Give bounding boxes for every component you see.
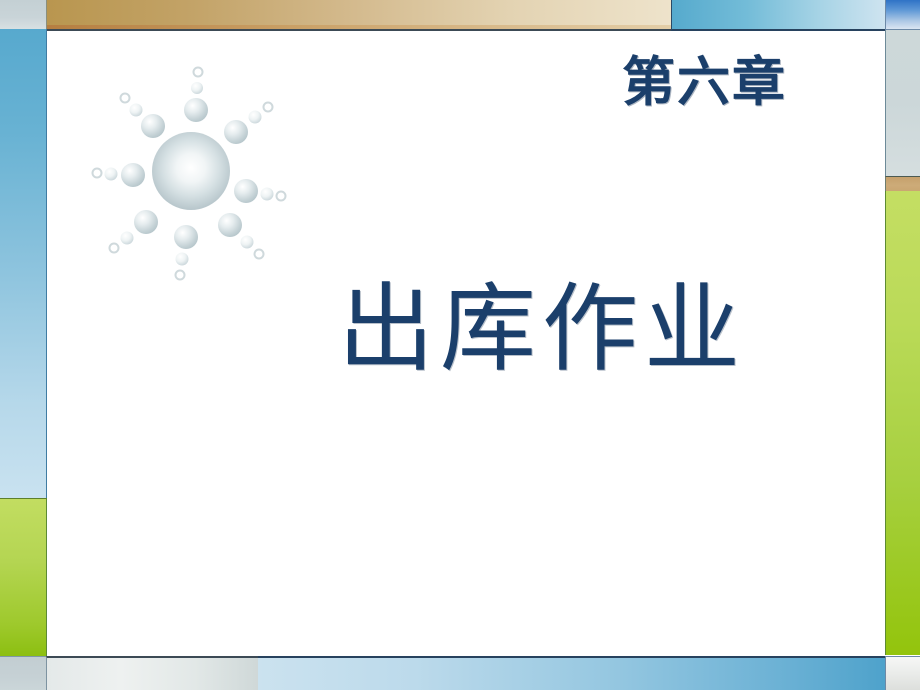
top-gold-gradient-bar — [46, 0, 672, 31]
left-green-block — [0, 498, 47, 656]
top-blue-gradient-bar — [671, 0, 886, 31]
bottom-gray-gradient-bar — [46, 656, 259, 690]
right-gray-block — [885, 30, 920, 176]
left-blue-column — [0, 29, 47, 498]
top-right-blue-strip — [885, 0, 920, 30]
sun-burst-icon — [78, 52, 298, 284]
bottom-right-corner-block — [885, 656, 920, 690]
right-green-block — [885, 191, 920, 655]
bottom-blue-gradient-bar — [258, 656, 885, 690]
slide-title: 出库作业 — [338, 282, 758, 378]
chapter-label: 第六章 — [622, 57, 832, 110]
presentation-slide: 第六章 出库作业 — [0, 0, 920, 690]
bottom-left-corner-block — [0, 656, 46, 690]
top-left-corner-block — [0, 0, 46, 30]
